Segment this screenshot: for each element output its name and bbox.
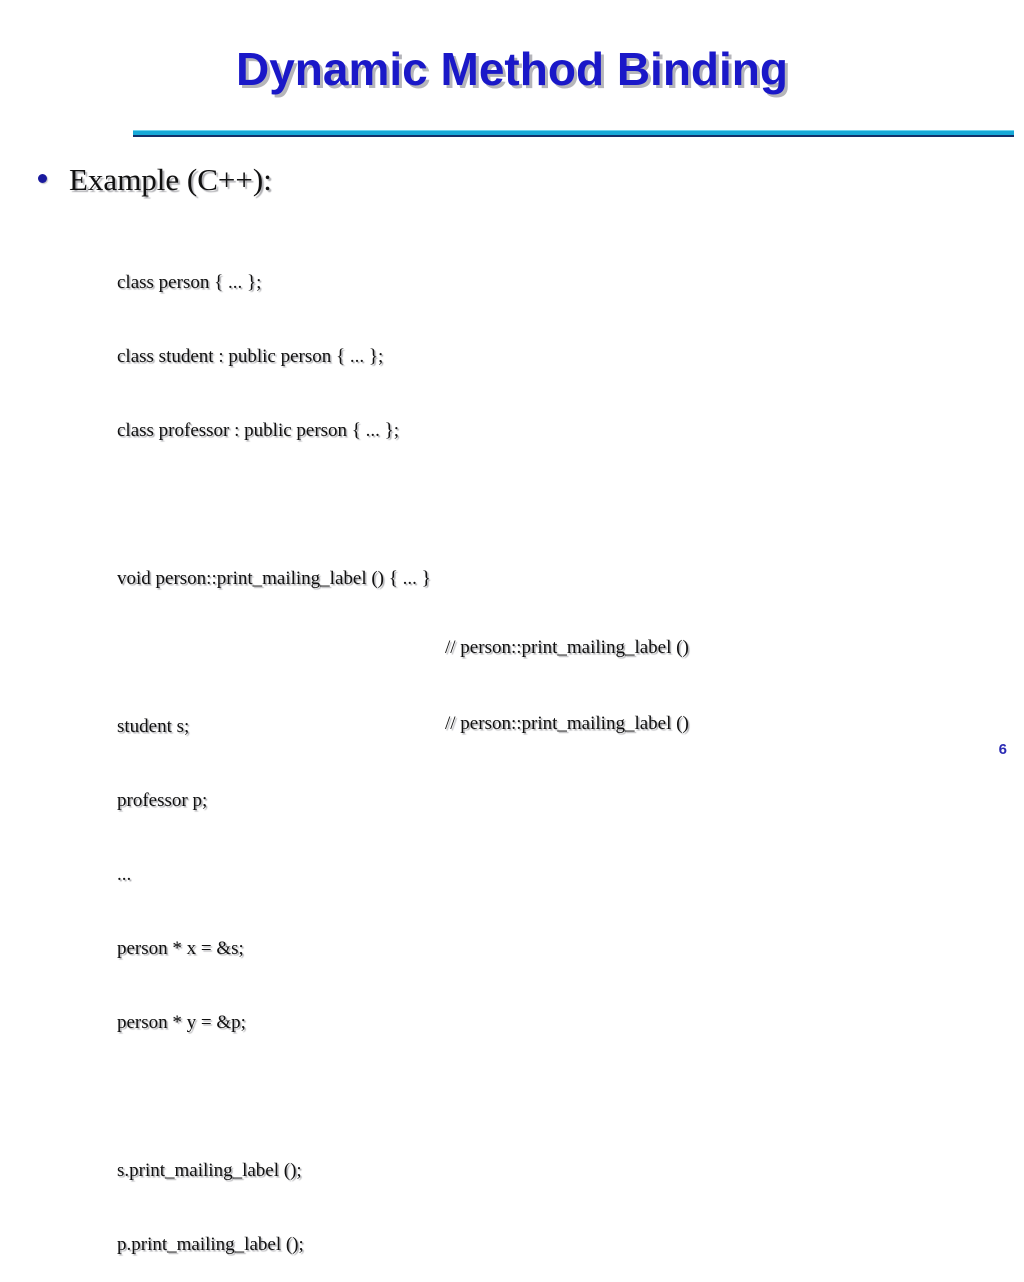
code-line: p.print_mailing_label (); xyxy=(117,1230,431,1260)
code-line: s.print_mailing_label (); xyxy=(117,1156,431,1186)
code-line-blank xyxy=(117,490,431,520)
code-line: student s; xyxy=(117,712,431,742)
page-title: Dynamic Method Binding xyxy=(0,42,1024,96)
code-line: professor p; xyxy=(117,786,431,816)
code-line: class person { ... }; xyxy=(117,268,431,298)
page-number: 6 xyxy=(999,741,1007,758)
title-divider xyxy=(133,130,1014,137)
code-comment-line: // person::print_mailing_label () xyxy=(445,708,689,740)
code-line-blank xyxy=(117,1082,431,1112)
code-line: void person::print_mailing_label () { ..… xyxy=(117,564,431,594)
code-line: ... xyxy=(117,860,431,890)
code-listing-main: class person { ... }; class student : pu… xyxy=(117,224,431,1282)
code-line: person * x = &s; xyxy=(117,934,431,964)
bullet-item: Example (C++): xyxy=(38,162,272,198)
bullet-dot-icon xyxy=(38,174,47,183)
code-line: class professor : public person { ... }; xyxy=(117,416,431,446)
code-comment-line: // person::print_mailing_label () xyxy=(445,632,689,664)
code-listing-comments: // person::print_mailing_label () // per… xyxy=(445,588,689,762)
title-divider-highlight xyxy=(133,130,1014,131)
code-line-blank xyxy=(117,638,431,668)
code-line: class student : public person { ... }; xyxy=(117,342,431,372)
bullet-item-label: Example (C++): xyxy=(69,162,272,198)
code-line: person * y = &p; xyxy=(117,1008,431,1038)
